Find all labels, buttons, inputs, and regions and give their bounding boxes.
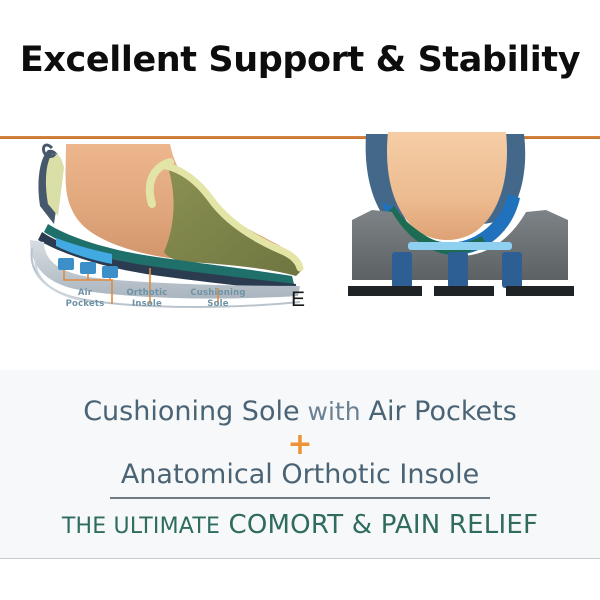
air-pocket-3 — [102, 266, 118, 278]
cushion-stripe — [408, 242, 512, 250]
rear-air-pocket-3 — [502, 252, 522, 288]
air-pocket-2 — [80, 262, 96, 274]
tagline-main: COMORT & PAIN RELIEF — [220, 510, 538, 540]
tagline-prefix: THE ULTIMATE — [62, 514, 220, 539]
divider-rule — [110, 497, 490, 499]
tread-right — [506, 286, 574, 296]
title-banner: Excellent Support & Stability — [0, 0, 600, 120]
foot-side-view-illustration — [0, 128, 330, 308]
benefit-with-word: with — [300, 397, 369, 426]
callout-air-pockets: Air Pockets — [55, 288, 115, 310]
tread-left — [348, 286, 422, 296]
tread-mid — [434, 286, 494, 296]
callout-orthotic-insole: Orthotic Insole — [112, 288, 182, 310]
heel-rear-view-illustration — [330, 128, 600, 308]
tagline: THE ULTIMATE COMORT & PAIN RELIEF — [0, 510, 600, 540]
footer-whitespace — [0, 559, 600, 600]
rear-air-pocket-1 — [392, 252, 412, 288]
page-title: Excellent Support & Stability — [20, 40, 580, 80]
rear-air-pocket-2 — [448, 252, 468, 288]
stray-letter-e: E — [291, 289, 305, 310]
benefit-cushioning-sole: Cushioning Sole — [83, 396, 299, 427]
illustration-band — [0, 120, 600, 370]
callout-labels: Air Pockets Orthotic Insole Cushioning S… — [0, 288, 330, 322]
benefit-line-one: Cushioning Sole with Air Pockets — [0, 396, 600, 427]
product-feature-graphic: Excellent Support & Stability — [0, 0, 600, 600]
callout-cushioning-sole: Cushioning Sole — [180, 288, 256, 310]
benefit-line-two: Anatomical Orthotic Insole — [0, 459, 600, 490]
plus-icon: + — [0, 430, 600, 460]
benefit-air-pockets: Air Pockets — [369, 396, 517, 427]
benefits-panel: Cushioning Sole with Air Pockets + Anato… — [0, 370, 600, 558]
air-pocket-1 — [58, 258, 74, 270]
